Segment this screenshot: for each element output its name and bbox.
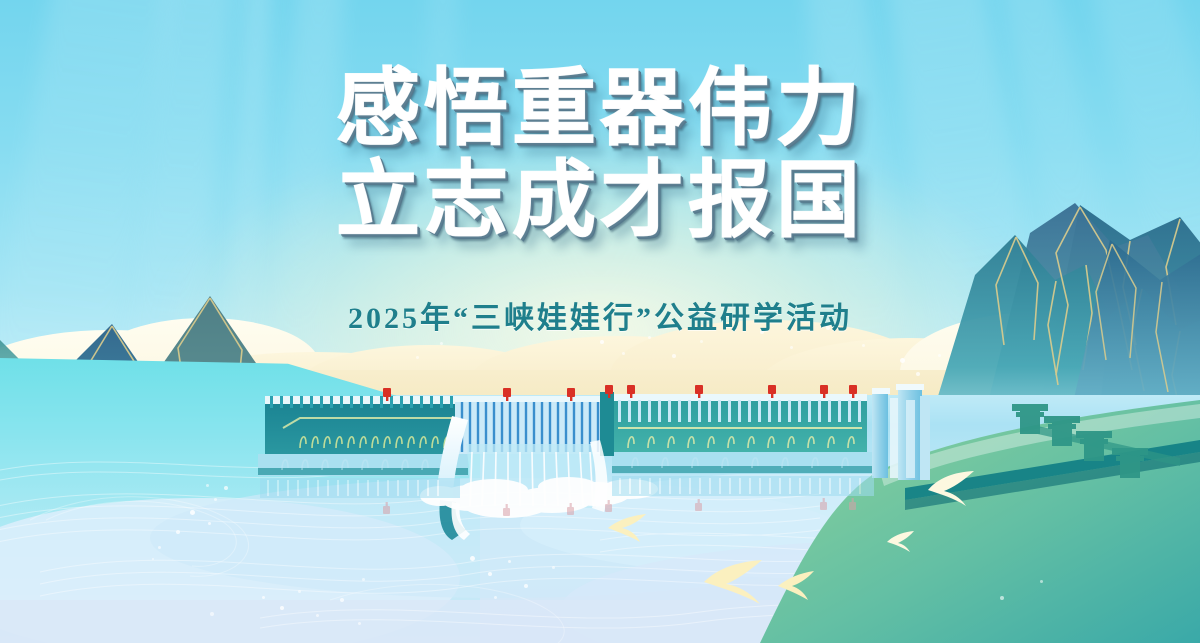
promo-banner: 感悟重器伟力 立志成才报国 2025年“三峡娃娃行”公益研学活动 [0, 0, 1200, 643]
swallow-icon [702, 560, 766, 606]
headline-line-1: 感悟重器伟力 [0, 62, 1200, 154]
headline-block: 感悟重器伟力 立志成才报国 [0, 62, 1200, 246]
swallow-icon [776, 570, 816, 602]
swallow-icon [926, 470, 976, 508]
ship-lock-towers [872, 384, 930, 480]
swallow-icon [886, 530, 916, 554]
swallow-icon [604, 512, 650, 546]
headline-line-2: 立志成才报国 [0, 154, 1200, 246]
subtitle: 2025年“三峡娃娃行”公益研学活动 [0, 293, 1200, 337]
